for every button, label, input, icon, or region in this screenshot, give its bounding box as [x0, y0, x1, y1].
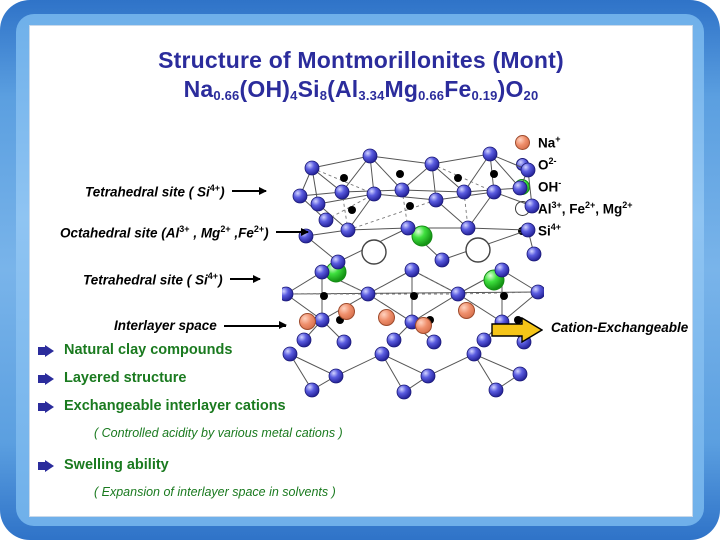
list-item-label: Exchangeable interlayer cations — [64, 394, 286, 419]
octahedral-cation-site — [362, 240, 386, 264]
list-item: Swelling ability — [38, 453, 458, 478]
annotation-label: Interlayer space — [114, 318, 217, 333]
annotation-tetrahedral-lower: Tetrahedral site ( Si4+) — [83, 271, 260, 288]
arrow-bullet-icon — [38, 338, 64, 362]
cation-exchange-arrow-icon — [491, 317, 543, 343]
pointer-arrow-icon — [232, 190, 266, 192]
annotation-label: Tetrahedral site ( Si4+) — [83, 271, 223, 288]
cation-exchangeable-label: Cation-Exchangeable — [551, 320, 688, 335]
title-chemical-formula: Na0.66(OH)4Si8(Al3.34Mg0.66Fe0.19)O20 — [30, 75, 692, 110]
pointer-arrow-icon — [224, 325, 286, 327]
list-item: Exchangeable interlayer cations — [38, 394, 458, 419]
bullet-list: Natural clay compounds Layered structure… — [38, 338, 458, 503]
arrow-bullet-icon — [38, 394, 64, 418]
silicon-dot — [340, 174, 348, 182]
list-item-label: Swelling ability — [64, 453, 169, 478]
annotation-interlayer-space: Interlayer space — [114, 318, 286, 333]
annotation-label: Tetrahedral site ( Si4+) — [85, 183, 225, 200]
list-item-label: Natural clay compounds — [64, 338, 232, 363]
pointer-arrow-icon — [276, 231, 308, 233]
slide-content-area: Structure of Montmorillonites (Mont) Na0… — [29, 25, 693, 517]
arrow-bullet-icon — [38, 453, 64, 477]
annotation-label: Octahedral site (Al3+ , Mg2+ ,Fe2+) — [60, 224, 269, 241]
list-item-label: Layered structure — [64, 366, 187, 391]
title-line-1: Structure of Montmorillonites (Mont) — [30, 46, 692, 75]
pointer-arrow-icon — [230, 278, 260, 280]
annotation-octahedral: Octahedral site (Al3+ , Mg2+ ,Fe2+) — [60, 224, 308, 241]
annotation-tetrahedral-upper: Tetrahedral site ( Si4+) — [85, 183, 266, 200]
arrow-bullet-icon — [38, 366, 64, 390]
slide-frame: Structure of Montmorillonites (Mont) Na0… — [0, 0, 720, 540]
list-item: Layered structure — [38, 366, 458, 391]
oxygen-sphere — [305, 161, 319, 175]
list-item-subtext: ( Controlled acidity by various metal ca… — [94, 422, 458, 444]
list-item: Natural clay compounds — [38, 338, 458, 363]
legend-label-octahedral-cations: Al3+, Fe2+, Mg2+ — [538, 200, 633, 217]
page-title: Structure of Montmorillonites (Mont) Na0… — [30, 46, 692, 110]
list-item-subtext: ( Expansion of interlayer space in solve… — [94, 481, 458, 503]
